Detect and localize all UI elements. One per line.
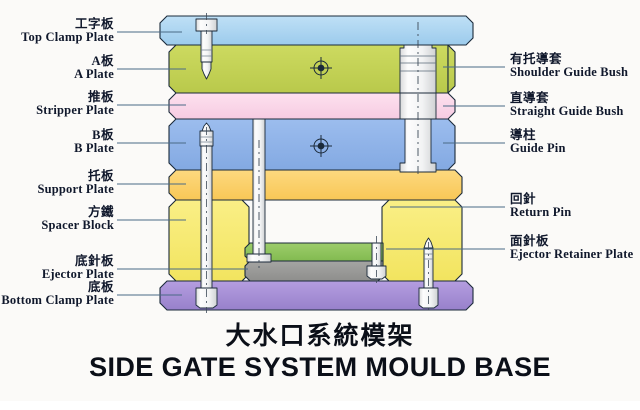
label-ejector-plate-cn: 底針板 <box>0 255 114 268</box>
label-ejector-plate: 底針板 Ejector Plate <box>0 255 114 281</box>
label-a-plate-cn: A板 <box>0 55 114 68</box>
diagram-canvas: 工字板 Top Clamp Plate A板 A Plate 推板 Stripp… <box>0 0 640 410</box>
label-guide-pin-en: Guide Pin <box>510 142 566 155</box>
guide-pin <box>400 119 436 172</box>
label-b-plate-en: B Plate <box>0 142 114 155</box>
diagram-title: 大水口系統模架 SIDE GATE SYSTEM MOULD BASE <box>0 316 640 383</box>
label-stripper-plate-cn: 推板 <box>0 91 114 104</box>
label-return-pin-cn: 回針 <box>510 193 571 206</box>
label-ejector-retainer-plate-en: Ejector Retainer Plate <box>510 248 633 261</box>
label-return-pin: 回針 Return Pin <box>510 193 571 219</box>
label-a-plate: A板 A Plate <box>0 55 114 81</box>
label-guide-pin-cn: 導柱 <box>510 129 566 142</box>
cap-screw-shank <box>201 31 212 62</box>
label-top-clamp-plate-cn: 工字板 <box>0 18 114 31</box>
label-straight-guide-bush: 直導套 Straight Guide Bush <box>510 92 624 118</box>
label-spacer-block-en: Spacer Block <box>0 219 114 232</box>
ejector-plate <box>245 261 383 281</box>
label-bottom-clamp-plate: 底板 Bottom Clamp Plate <box>0 281 114 307</box>
label-support-plate-en: Support Plate <box>0 183 114 196</box>
bottom-white-strip <box>0 401 640 410</box>
label-straight-guide-bush-en: Straight Guide Bush <box>510 105 624 118</box>
title-english: SIDE GATE SYSTEM MOULD BASE <box>0 352 640 383</box>
a-plate-right-edge <box>448 45 455 93</box>
label-bottom-clamp-plate-cn: 底板 <box>0 281 114 294</box>
spacer-block-right <box>382 200 462 281</box>
label-return-pin-en: Return Pin <box>510 206 571 219</box>
label-top-clamp-plate: 工字板 Top Clamp Plate <box>0 18 114 44</box>
label-b-plate: B板 B Plate <box>0 129 114 155</box>
label-shoulder-guide-bush-en: Shoulder Guide Bush <box>510 66 628 79</box>
label-ejector-retainer-plate: 面針板 Ejector Retainer Plate <box>510 235 633 261</box>
label-spacer-block: 方鐵 Spacer Block <box>0 206 114 232</box>
support-plate <box>169 170 462 200</box>
label-guide-pin: 導柱 Guide Pin <box>510 129 566 155</box>
label-a-plate-en: A Plate <box>0 68 114 81</box>
label-support-plate: 托板 Support Plate <box>0 170 114 196</box>
label-shoulder-guide-bush-cn: 有托導套 <box>510 53 628 66</box>
label-straight-guide-bush-cn: 直導套 <box>510 92 624 105</box>
label-shoulder-guide-bush: 有托導套 Shoulder Guide Bush <box>510 53 628 79</box>
label-top-clamp-plate-en: Top Clamp Plate <box>0 31 114 44</box>
label-ejector-retainer-plate-cn: 面針板 <box>510 235 633 248</box>
title-chinese: 大水口系統模架 <box>0 316 640 352</box>
label-support-plate-cn: 托板 <box>0 170 114 183</box>
label-spacer-block-cn: 方鐵 <box>0 206 114 219</box>
label-bottom-clamp-plate-en: Bottom Clamp Plate <box>0 294 114 307</box>
label-stripper-plate-en: Stripper Plate <box>0 104 114 117</box>
label-ejector-plate-en: Ejector Plate <box>0 268 114 281</box>
label-b-plate-cn: B板 <box>0 129 114 142</box>
label-stripper-plate: 推板 Stripper Plate <box>0 91 114 117</box>
